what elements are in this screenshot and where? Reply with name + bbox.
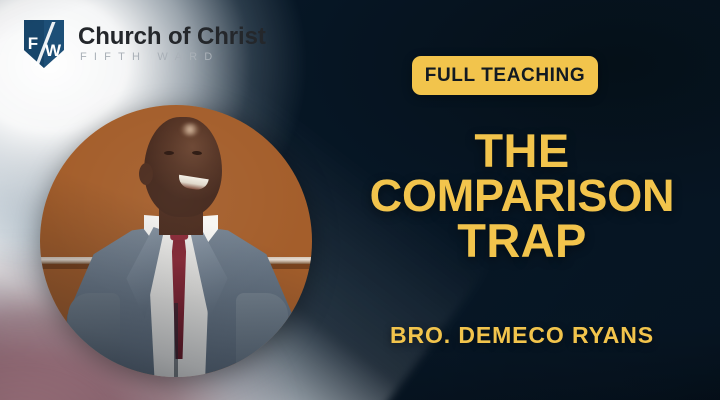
brand-subtitle: FIFTH WARD (78, 52, 266, 63)
svg-text:W: W (45, 41, 62, 60)
portrait-image (40, 105, 312, 377)
speaker-name: BRO. DEMECO RYANS (330, 322, 714, 349)
title-line-1: THE (330, 128, 714, 174)
brand-text-group: Church of Christ FIFTH WARD (78, 25, 266, 63)
title-line-3: TRAP (330, 218, 714, 264)
svg-text:F: F (28, 34, 38, 53)
badge-label: FULL TEACHING (425, 65, 586, 87)
brand-lockup: F W Church of Christ FIFTH WARD (24, 20, 266, 68)
title-line-2: COMPARISON (330, 174, 714, 218)
portrait-shading (40, 105, 312, 377)
brand-title: Church of Christ (78, 25, 266, 50)
video-thumbnail: F W Church of Christ FIFTH WARD (0, 0, 720, 400)
speaker-portrait (40, 105, 312, 377)
full-teaching-badge[interactable]: FULL TEACHING (412, 56, 598, 95)
page-title: THE COMPARISON TRAP (330, 128, 714, 264)
fw-shield-icon: F W (24, 20, 64, 68)
